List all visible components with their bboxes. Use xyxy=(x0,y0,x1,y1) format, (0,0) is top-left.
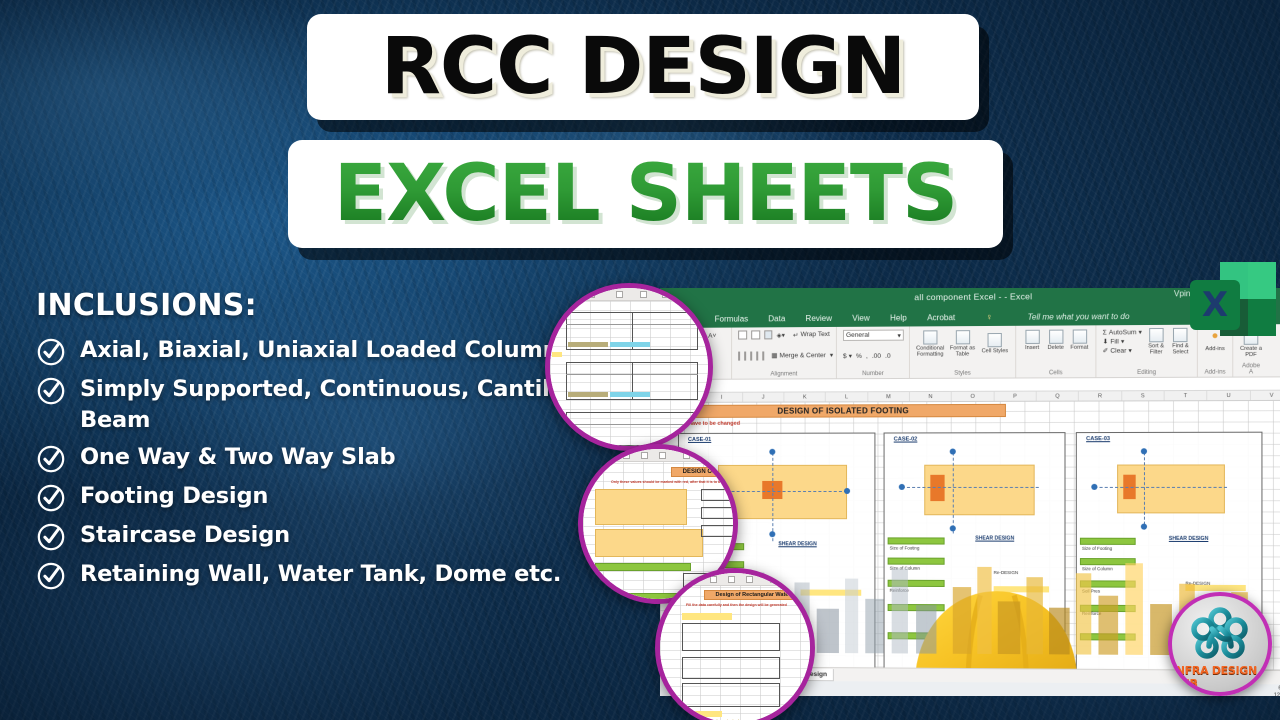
result-note: Re-DESIGN xyxy=(1185,581,1210,587)
inset-sheet-title: DESIGN OF TWO xyxy=(671,467,738,477)
align-bottom-icon[interactable] xyxy=(764,330,773,339)
dimension-marker xyxy=(1141,448,1147,454)
dimension-marker xyxy=(899,484,905,490)
result-row xyxy=(888,604,945,611)
input-block xyxy=(595,489,687,525)
increase-decimal-icon[interactable]: .00 xyxy=(872,352,881,359)
ribbon-group-cells: Insert Delete Format Cells xyxy=(1016,325,1096,377)
merge-center-button[interactable]: ▦ Merge & Center xyxy=(771,351,826,359)
result-row xyxy=(1080,538,1136,545)
column-header[interactable]: M xyxy=(868,392,910,401)
dimension-marker xyxy=(769,531,775,537)
ribbon-group-number: General▾ $▾ % , .00 .0 Number xyxy=(837,326,910,378)
row-label: Reinforce xyxy=(1082,611,1101,617)
tab-acrobat[interactable]: Acrobat xyxy=(927,313,955,322)
taskbar-clock[interactable]: 6:24 12/29/ xyxy=(1274,685,1280,696)
tab-review[interactable]: Review xyxy=(806,313,833,322)
result-row xyxy=(888,537,945,544)
inclusion-label: Footing Design xyxy=(80,481,268,512)
group-label-editing: Editing xyxy=(1103,370,1191,378)
result-row xyxy=(888,580,945,587)
result-row xyxy=(888,558,945,565)
align-left-icon[interactable] xyxy=(738,351,740,360)
column-header[interactable]: U xyxy=(1208,391,1251,400)
input-block xyxy=(595,529,703,557)
clear-button[interactable]: ✐ Clear ▾ xyxy=(1103,346,1142,354)
inset-sheet-title: Design of Rectangular Water Tank xyxy=(704,590,815,600)
list-item: Staircase Design xyxy=(36,520,656,552)
page-title-line1: RCC DESIGN xyxy=(381,28,905,106)
lightbulb-icon: ♀ xyxy=(986,312,993,322)
result-note: Re-DESIGN xyxy=(994,570,1019,576)
infinity-knot-icon xyxy=(1189,606,1251,662)
column-header[interactable]: Q xyxy=(1037,391,1080,400)
dimension-marker xyxy=(769,449,775,455)
result-row xyxy=(888,632,945,639)
increase-indent-icon[interactable] xyxy=(762,351,764,360)
check-circle-icon xyxy=(36,444,66,474)
autosum-button[interactable]: Σ AutoSum ▾ xyxy=(1103,328,1142,336)
decrease-decimal-icon[interactable]: .0 xyxy=(885,352,891,359)
case-label: CASE-02 xyxy=(894,436,918,442)
excel-app-icon: X xyxy=(1186,258,1280,350)
section-header xyxy=(682,711,722,717)
mini-table xyxy=(701,507,735,519)
tab-formulas[interactable]: Formulas xyxy=(715,314,748,323)
mini-table xyxy=(701,525,735,537)
highlight-row xyxy=(552,352,562,357)
tab-help[interactable]: Help xyxy=(890,313,907,322)
fill-button[interactable]: ⬇ Fill ▾ xyxy=(1103,337,1142,345)
page-title-line2: EXCEL SHEETS xyxy=(334,155,957,233)
dimension-marker xyxy=(1141,524,1147,530)
format-as-table-button[interactable]: Format as Table xyxy=(948,330,976,358)
excel-window-title: all component Excel - - Excel xyxy=(914,291,1032,302)
row-label: Size of Column xyxy=(1082,566,1113,572)
check-circle-icon xyxy=(36,337,66,367)
dimension-marker xyxy=(950,525,956,531)
row-label: Reinforce xyxy=(890,588,909,594)
highlight-row xyxy=(568,342,608,347)
tab-view[interactable]: View xyxy=(852,313,869,322)
check-circle-icon xyxy=(36,522,66,552)
align-right-icon[interactable] xyxy=(750,351,752,360)
column-header[interactable]: S xyxy=(1122,391,1165,400)
inset-note: Only these values should be marked with … xyxy=(611,480,738,484)
list-item: Retaining Wall, Water Tank, Dome etc. xyxy=(36,559,656,591)
highlight-row xyxy=(610,392,650,397)
group-label-cells: Cells xyxy=(1022,370,1089,377)
result-row xyxy=(1080,633,1136,640)
title-plate-secondary: EXCEL SHEETS xyxy=(288,140,1003,248)
shear-design-label: SHEAR DESIGN xyxy=(975,536,1014,542)
group-label-number: Number xyxy=(843,371,903,378)
brand-logo[interactable]: INFRA DESIGN HUB xyxy=(1168,592,1272,696)
sheet-title-banner: DESIGN OF ISOLATED FOOTING xyxy=(682,404,1006,418)
case-label: CASE-03 xyxy=(1086,436,1110,442)
group-label-styles: Styles xyxy=(916,370,1009,377)
inset-water-tank-sheet: Design of Rectangular Water Tank Fill th… xyxy=(655,568,815,720)
group-label-alignment: Alignment xyxy=(738,371,830,378)
shrink-font-icon[interactable]: A˅ xyxy=(708,333,716,340)
inclusion-label: Axial, Biaxial, Uniaxial Loaded Column xyxy=(80,335,558,366)
title-plate-primary: RCC DESIGN xyxy=(307,14,979,120)
dimension-marker xyxy=(1091,484,1097,490)
shear-design-label: SHEAR DESIGN xyxy=(778,541,816,547)
inset-note: Fill the data carefully and then the des… xyxy=(686,603,787,607)
inset-mini-ribbon xyxy=(583,449,733,462)
align-middle-icon[interactable] xyxy=(751,330,760,339)
section-header xyxy=(682,613,732,620)
dimension-marker xyxy=(950,449,956,455)
excel-icon-letter: X xyxy=(1202,285,1228,325)
cell-styles-button[interactable]: Cell Styles xyxy=(981,333,1009,355)
list-item: Footing Design xyxy=(36,481,656,513)
column-header[interactable]: L xyxy=(826,392,868,401)
inset-mini-ribbon xyxy=(660,573,810,586)
row-label: Soil Pres xyxy=(1082,589,1100,595)
column-header[interactable]: J xyxy=(743,393,785,402)
check-circle-icon xyxy=(36,376,66,406)
column-header[interactable]: K xyxy=(784,392,826,401)
column-header[interactable]: N xyxy=(910,392,952,401)
orientation-icon[interactable]: ◈▾ xyxy=(777,331,785,339)
footing-plan-shape xyxy=(718,465,847,519)
format-cells-button[interactable]: Format xyxy=(1070,329,1090,351)
mini-table xyxy=(701,489,735,501)
shear-design-label: SHEAR DESIGN xyxy=(1169,536,1209,542)
estimate-table xyxy=(566,412,698,446)
group-label-addins: Add-ins xyxy=(1204,369,1226,376)
group-label-adobe: Adobe A xyxy=(1240,363,1263,376)
clock-date: 12/29/ xyxy=(1274,693,1280,696)
input-table xyxy=(682,657,780,679)
highlight-row xyxy=(610,342,650,347)
ribbon-group-styles: Conditional Formatting Format as Table C… xyxy=(910,326,1016,378)
inclusion-label: One Way & Two Way Slab xyxy=(80,442,395,473)
check-circle-icon xyxy=(36,561,66,591)
highlight-row xyxy=(568,392,608,397)
ribbon-group-editing: Σ AutoSum ▾ ⬇ Fill ▾ ✐ Clear ▾ Sort & Fi… xyxy=(1096,325,1197,377)
check-circle-icon xyxy=(36,483,66,513)
wrap-text-button[interactable]: ↵ Wrap Text xyxy=(793,330,830,338)
currency-format-icon[interactable]: $▾ xyxy=(843,352,852,360)
column-header[interactable]: V xyxy=(1251,391,1280,400)
result-row xyxy=(595,563,691,571)
ribbon-group-alignment: ◈▾ ↵ Wrap Text ▦ Merge & Center ▾ Alignm… xyxy=(732,327,837,379)
result-row xyxy=(1080,580,1136,587)
number-format-select[interactable]: General▾ xyxy=(843,330,904,341)
align-top-icon[interactable] xyxy=(738,330,747,339)
insert-cells-button[interactable]: Insert xyxy=(1022,330,1042,352)
tab-data[interactable]: Data xyxy=(768,314,785,323)
conditional-formatting-button[interactable]: Conditional Formatting xyxy=(916,330,944,358)
column-header[interactable]: P xyxy=(994,392,1036,401)
inset-cost-estimate-sheet xyxy=(545,283,713,451)
row-label: Size of Footing xyxy=(1082,546,1112,552)
comma-format-icon[interactable]: , xyxy=(866,352,868,359)
align-center-icon[interactable] xyxy=(744,351,746,360)
inclusion-label: Staircase Design xyxy=(80,520,290,551)
result-row xyxy=(1080,558,1136,565)
row-label: Size of Column xyxy=(890,566,920,572)
decrease-indent-icon[interactable] xyxy=(756,351,758,360)
input-table xyxy=(682,623,780,651)
row-label: Size of Footing xyxy=(890,545,920,551)
column-header[interactable]: R xyxy=(1079,391,1122,400)
inclusion-label: Retaining Wall, Water Tank, Dome etc. xyxy=(80,559,561,590)
list-item: One Way & Two Way Slab xyxy=(36,442,656,474)
sort-filter-button[interactable]: Sort & Filter xyxy=(1146,328,1166,356)
dimension-marker xyxy=(844,488,850,494)
delete-cells-button[interactable]: Delete xyxy=(1046,330,1066,352)
input-table xyxy=(682,683,780,707)
percent-format-icon[interactable]: % xyxy=(856,352,862,359)
column-header[interactable]: O xyxy=(952,392,994,401)
redesign-flag xyxy=(994,586,1049,592)
tell-me-input[interactable]: Tell me what you want to do xyxy=(1028,311,1130,321)
column-header[interactable]: T xyxy=(1165,391,1208,400)
inset-mini-ribbon xyxy=(550,288,708,301)
